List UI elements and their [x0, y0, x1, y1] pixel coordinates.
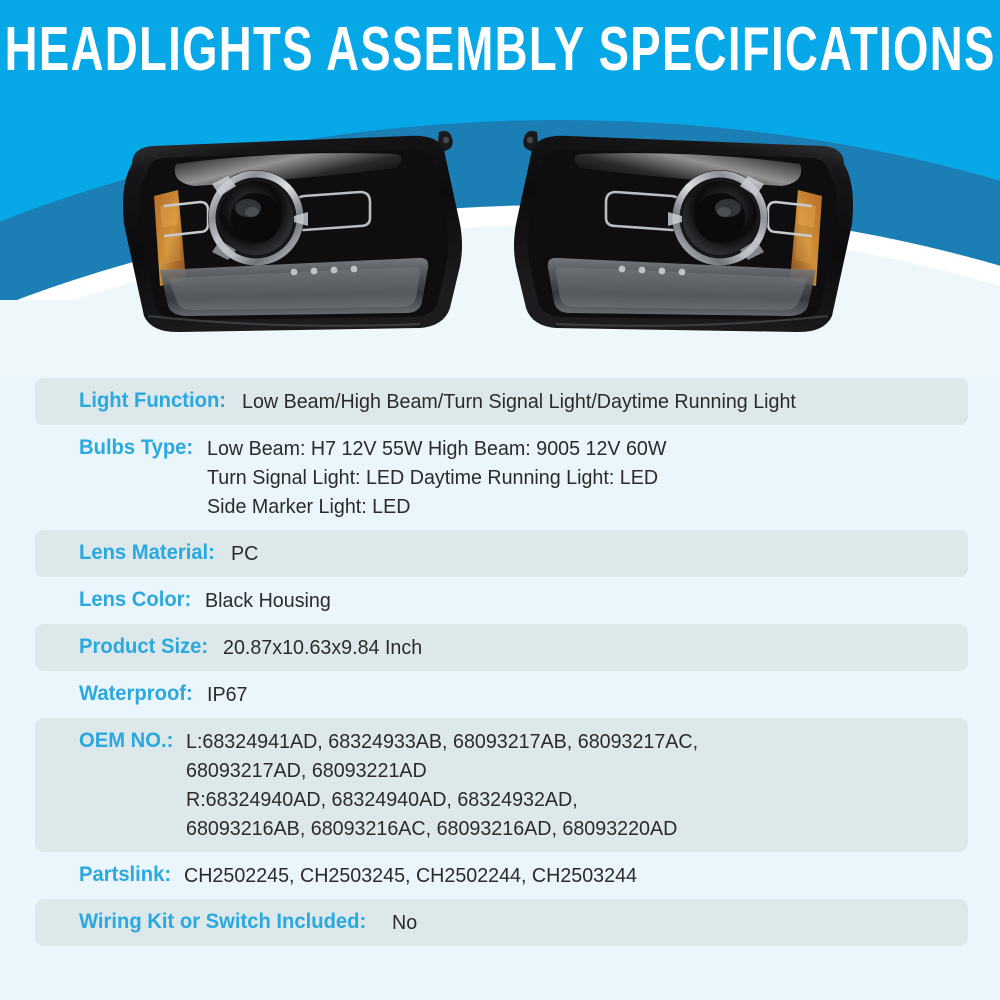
spec-value: R:68324940AD, 68324940AD, 68324932AD, — [186, 785, 578, 814]
spec-value: IP67 — [207, 680, 247, 709]
title-bar: HEADLIGHTS ASSEMBLY SPECIFICATIONS — [0, 0, 1000, 96]
spec-value: CH2502245, CH2503245, CH2502244, CH25032… — [184, 861, 637, 890]
spec-label: Light Function: — [79, 387, 226, 414]
page-title: HEADLIGHTS ASSEMBLY SPECIFICATIONS — [4, 18, 995, 81]
spec-value: 20.87x10.63x9.84 Inch — [223, 633, 422, 662]
spec-label: Product Size: — [79, 633, 208, 660]
spec-value: Side Marker Light: LED — [207, 492, 410, 521]
spec-label: Lens Color: — [79, 586, 191, 613]
spec-value: 68093217AD, 68093221AD — [186, 756, 427, 785]
specifications-table: Light Function: Low Beam/High Beam/Turn … — [0, 378, 1000, 946]
spec-value: Black Housing — [205, 586, 331, 615]
spec-label: Partslink: — [79, 861, 171, 888]
spec-label: Wiring Kit or Switch Included: — [79, 908, 366, 935]
left-headlight-assembly — [108, 120, 468, 350]
spec-row-oem-no: OEM NO.: L:68324941AD, 68324933AB, 68093… — [35, 718, 968, 852]
spec-row-lens-material: Lens Material: PC — [35, 530, 968, 577]
spec-value: Low Beam/High Beam/Turn Signal Light/Day… — [242, 387, 796, 416]
spec-label: OEM NO.: — [79, 727, 173, 754]
spec-row-lens-color: Lens Color: Black Housing — [35, 577, 968, 624]
spec-value: Low Beam: H7 12V 55W High Beam: 9005 12V… — [207, 434, 666, 463]
spec-row-bulbs-type: Bulbs Type: Low Beam: H7 12V 55W High Be… — [35, 425, 968, 530]
spec-row-light-function: Light Function: Low Beam/High Beam/Turn … — [35, 378, 968, 425]
spec-row-waterproof: Waterproof: IP67 — [35, 671, 968, 718]
spec-row-wiring-kit: Wiring Kit or Switch Included: No — [35, 899, 968, 946]
product-image — [0, 120, 1000, 370]
spec-value: Turn Signal Light: LED Daytime Running L… — [207, 463, 658, 492]
right-headlight-assembly — [508, 120, 868, 350]
spec-row-product-size: Product Size: 20.87x10.63x9.84 Inch — [35, 624, 968, 671]
spec-value: 68093216AB, 68093216AC, 68093216AD, 6809… — [186, 814, 677, 843]
spec-value: No — [392, 908, 417, 937]
spec-value: L:68324941AD, 68324933AB, 68093217AB, 68… — [186, 727, 698, 756]
product-spec-page: HEADLIGHTS ASSEMBLY SPECIFICATIONS — [0, 0, 1000, 1000]
spec-value: PC — [231, 539, 258, 568]
spec-label: Bulbs Type: — [79, 434, 193, 461]
spec-label: Lens Material: — [79, 539, 215, 566]
spec-label: Waterproof: — [79, 680, 193, 707]
spec-row-partslink: Partslink: CH2502245, CH2503245, CH25022… — [35, 852, 968, 899]
